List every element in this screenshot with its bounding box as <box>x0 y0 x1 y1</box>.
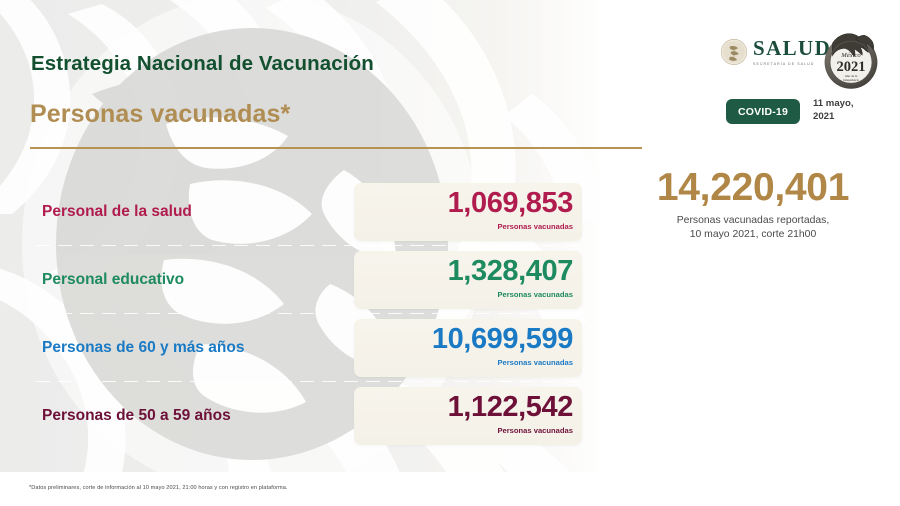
row-label: Personal de la salud <box>42 203 192 221</box>
vaccination-rows-list: Personal de la salud1,069,853Personas va… <box>0 178 612 450</box>
salud-logo: SALUD SECRETARÍA DE SALUD <box>720 38 831 66</box>
report-date-line1: 11 mayo, <box>813 98 854 111</box>
row-value-caption: Personas vacunadas <box>354 290 573 299</box>
svg-text:2021: 2021 <box>836 59 865 75</box>
mexico-eagle-seal-icon <box>720 38 748 66</box>
row-value-card: 10,699,599Personas vacunadas <box>354 319 582 377</box>
row-value-card: 1,122,542Personas vacunadas <box>354 387 582 445</box>
vaccination-row: Personal educativo1,328,407Personas vacu… <box>0 246 612 314</box>
report-date: 11 mayo, 2021 <box>813 98 854 123</box>
total-caption-line1: Personas vacunadas reportadas, <box>618 214 888 228</box>
svg-text:Año de la: Año de la <box>845 74 858 78</box>
mexico-2021-seal-icon: México 2021 Año de la Independencia <box>818 26 884 92</box>
svg-text:México: México <box>840 52 861 59</box>
row-value-caption: Personas vacunadas <box>354 426 573 435</box>
covid-19-badge: COVID-19 <box>726 99 800 124</box>
row-label: Personas de 60 y más años <box>42 339 244 357</box>
slide-root: Estrategia Nacional de Vacunación Person… <box>0 0 900 506</box>
header-divider <box>30 147 642 149</box>
footnote: *Datos preliminares, corte de informació… <box>29 485 288 491</box>
report-date-line2: 2021 <box>813 111 854 124</box>
row-value-card: 1,069,853Personas vacunadas <box>354 183 582 241</box>
total-vaccinated-caption: Personas vacunadas reportadas, 10 mayo 2… <box>618 214 888 243</box>
row-label: Personal educativo <box>42 271 184 289</box>
vaccination-row: Personas de 50 a 59 años1,122,542Persona… <box>0 382 612 450</box>
row-value-caption: Personas vacunadas <box>354 222 573 231</box>
row-value: 1,069,853 <box>354 187 573 220</box>
vaccination-row: Personas de 60 y más años10,699,599Perso… <box>0 314 612 382</box>
row-value-caption: Personas vacunadas <box>354 358 573 367</box>
page-title: Estrategia Nacional de Vacunación <box>31 52 374 76</box>
row-value: 10,699,599 <box>354 323 573 356</box>
vaccination-row: Personal de la salud1,069,853Personas va… <box>0 178 612 246</box>
row-value: 1,328,407 <box>354 255 573 288</box>
svg-text:Independencia: Independencia <box>843 79 859 82</box>
row-value-card: 1,328,407Personas vacunadas <box>354 251 582 309</box>
row-label: Personas de 50 a 59 años <box>42 407 231 425</box>
row-value: 1,122,542 <box>354 391 573 424</box>
total-vaccinated-number: 14,220,401 <box>618 166 888 210</box>
total-caption-line2: 10 mayo 2021, corte 21h00 <box>618 228 888 242</box>
page-subtitle: Personas vacunadas* <box>30 100 290 129</box>
